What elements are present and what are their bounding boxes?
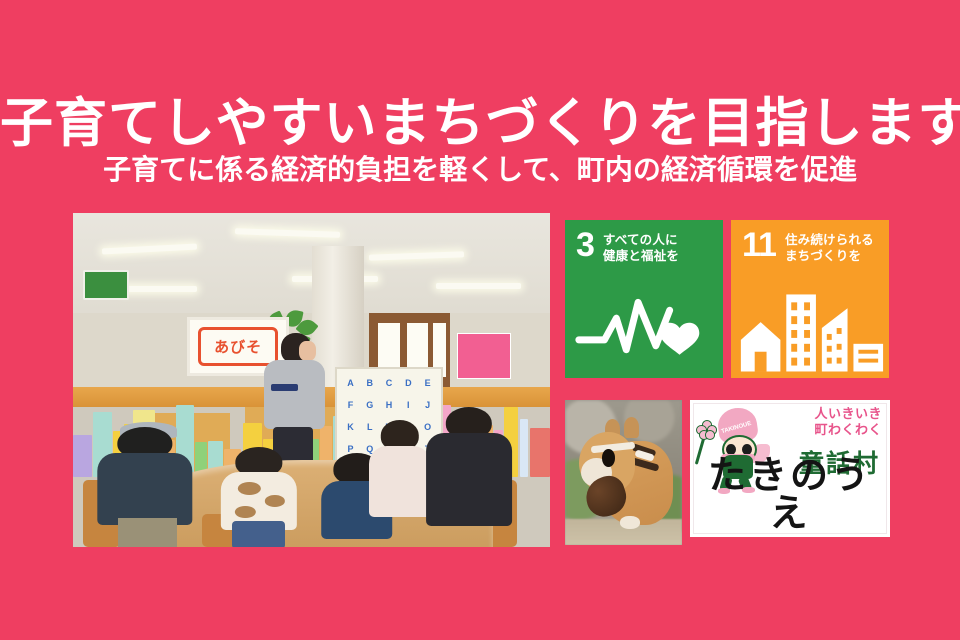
exit-sign-icon [83,270,130,301]
poster-letter: K [347,422,354,432]
pink-notice-poster [457,333,511,378]
page-title: 子育てしやすいまちづくりを目指します [0,96,960,152]
poster-letter: F [348,400,354,410]
picture-book [520,419,529,477]
ceiling-light [121,286,197,292]
picture-book [73,435,92,477]
pattern-spot [235,506,256,519]
takinoue-town-logo: TAKINOUE 人いきいき 町わくわく 童話村 たきのうえ [690,400,890,537]
chipmunk-photo [565,400,682,545]
sdg-11-number: 11 [742,232,776,260]
flower-icon [696,420,715,437]
hoodie-logo [271,384,298,391]
pattern-spot [265,495,285,507]
torso [369,446,431,516]
hoodie [264,360,325,429]
sdg-badge-11: 11 住み続けられる まちづくりを [731,220,889,378]
poster-letter: E [425,378,431,388]
pants [118,518,177,547]
sdg-3-label: すべての人に 健康と福祉を [603,232,679,264]
picture-book [530,428,550,477]
poster-letter: I [407,400,410,410]
eye [602,449,615,466]
slide-root: 子育てしやすいまちづくりを目指します 子育てに係る経済的負担を軽くして、町内の経… [0,0,960,640]
sdg-11-header: 11 住み続けられる まちづくりを [731,220,889,264]
sdg-badge-3: 3 すべての人に 健康と福祉を [565,220,723,378]
poster-letter: A [347,378,354,388]
sdg-11-label: 住み続けられる まちづくりを [785,232,874,264]
ear [624,417,639,437]
poster-letter: B [367,378,374,388]
person-adult-right [426,407,512,547]
pants [232,521,285,547]
poster-letter: G [366,400,373,410]
sdg-3-header: 3 すべての人に 健康と福祉を [565,220,723,264]
page-subtitle: 子育てに係る経済的負担を軽くして、町内の経済循環を促進 [0,155,960,186]
person-girl [369,420,431,534]
face [299,341,316,361]
library-scene: あびそ ABCDEFGHIJKLMNOPQRST [73,213,550,547]
torso [426,433,512,526]
pattern-spot [238,482,261,495]
poster-letter: H [386,400,393,410]
person-adult-left [97,427,192,547]
paw [620,516,640,529]
library-photo: あびそ ABCDEFGHIJKLMNOPQRST [73,213,550,547]
person-child-center [221,447,297,547]
poster-letter: P [347,444,353,454]
ceiling-light [436,283,522,289]
logo-town-name: たきのうえ [690,457,890,533]
petal [705,430,716,440]
heartbeat-heart-icon [565,288,723,372]
poster-letter: D [405,378,412,388]
logo-slogan: 人いきいき 町わくわく [814,406,882,439]
buildings-city-icon [731,288,889,372]
sdg-3-number: 3 [576,232,594,260]
torso [97,453,192,525]
poster-letter: C [386,378,393,388]
